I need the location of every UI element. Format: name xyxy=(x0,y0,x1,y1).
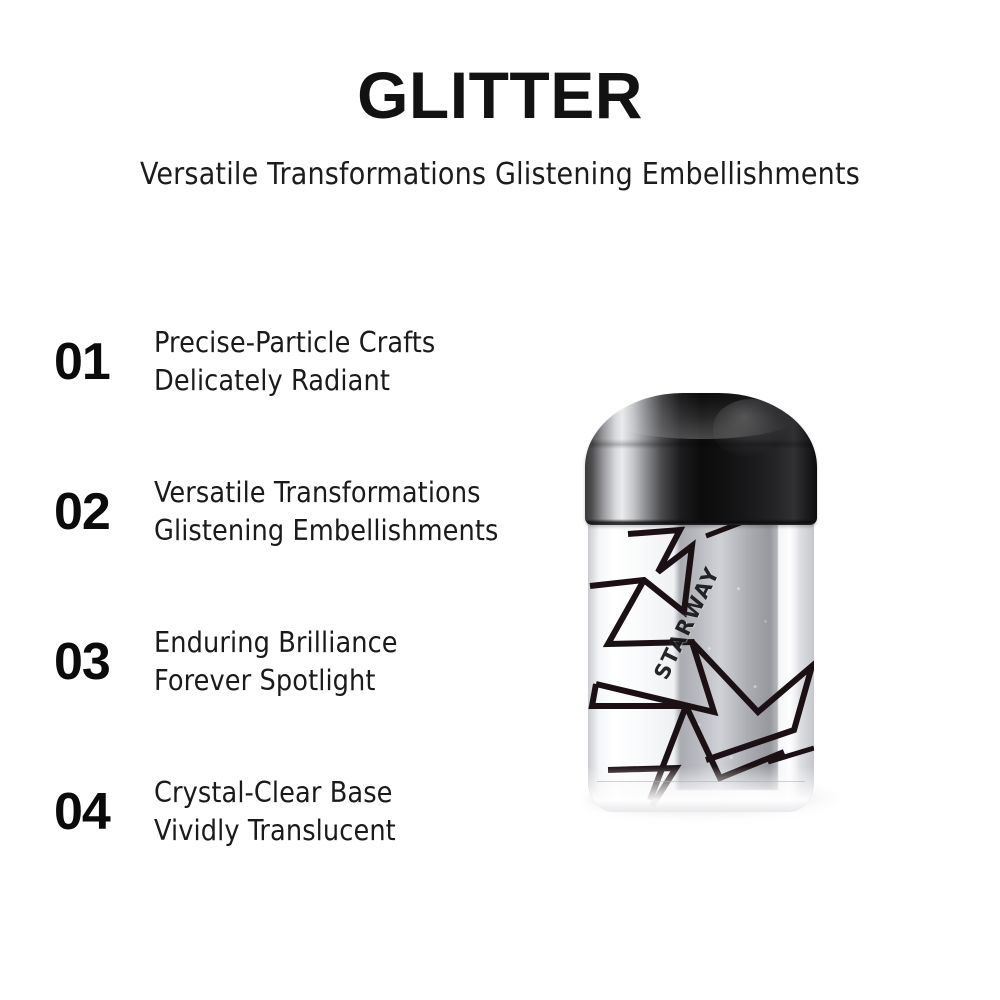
feature-item-02: 02 Versatile Transformations Glistening … xyxy=(54,456,574,568)
jar-base xyxy=(588,766,814,812)
jar-body: STARWAY xyxy=(588,516,814,812)
feature-line-1: Enduring Brilliance xyxy=(154,624,574,662)
glitter-powder xyxy=(674,518,778,790)
infographic-page: GLITTER Versatile Transformations Gliste… xyxy=(0,0,1000,1000)
cap-bottom-edge xyxy=(585,519,817,525)
feature-line-2: Glistening Embellishments xyxy=(154,512,574,550)
feature-number: 01 xyxy=(54,336,154,388)
jar-base-line xyxy=(597,781,805,782)
feature-line-2: Delicately Radiant xyxy=(154,362,574,400)
feature-number: 02 xyxy=(54,486,154,538)
feature-line-2: Forever Spotlight xyxy=(154,662,574,700)
feature-line-1: Precise-Particle Crafts xyxy=(154,324,574,362)
cap-groove xyxy=(585,439,817,449)
glitter-jar: STARWAY xyxy=(585,393,817,812)
feature-list: 01 Precise-Particle Crafts Delicately Ra… xyxy=(54,306,574,868)
feature-number: 04 xyxy=(54,786,154,838)
page-title: GLITTER xyxy=(0,62,1000,128)
feature-line-1: Versatile Transformations xyxy=(154,474,574,512)
feature-line-2: Vividly Translucent xyxy=(154,812,574,850)
feature-item-04: 04 Crystal-Clear Base Vividly Translucen… xyxy=(54,756,574,868)
feature-item-03: 03 Enduring Brilliance Forever Spotlight xyxy=(54,606,574,718)
feature-item-01: 01 Precise-Particle Crafts Delicately Ra… xyxy=(54,306,574,418)
jar-cap xyxy=(585,393,817,525)
feature-text: Crystal-Clear Base Vividly Translucent xyxy=(154,774,574,850)
feature-text: Versatile Transformations Glistening Emb… xyxy=(154,474,574,550)
product-image: STARWAY xyxy=(560,375,860,845)
page-subtitle: Versatile Transformations Glistening Emb… xyxy=(0,128,1000,191)
feature-number: 03 xyxy=(54,636,154,688)
feature-line-1: Crystal-Clear Base xyxy=(154,774,574,812)
feature-text: Precise-Particle Crafts Delicately Radia… xyxy=(154,324,574,400)
feature-text: Enduring Brilliance Forever Spotlight xyxy=(154,624,574,700)
header: GLITTER Versatile Transformations Gliste… xyxy=(0,62,1000,191)
